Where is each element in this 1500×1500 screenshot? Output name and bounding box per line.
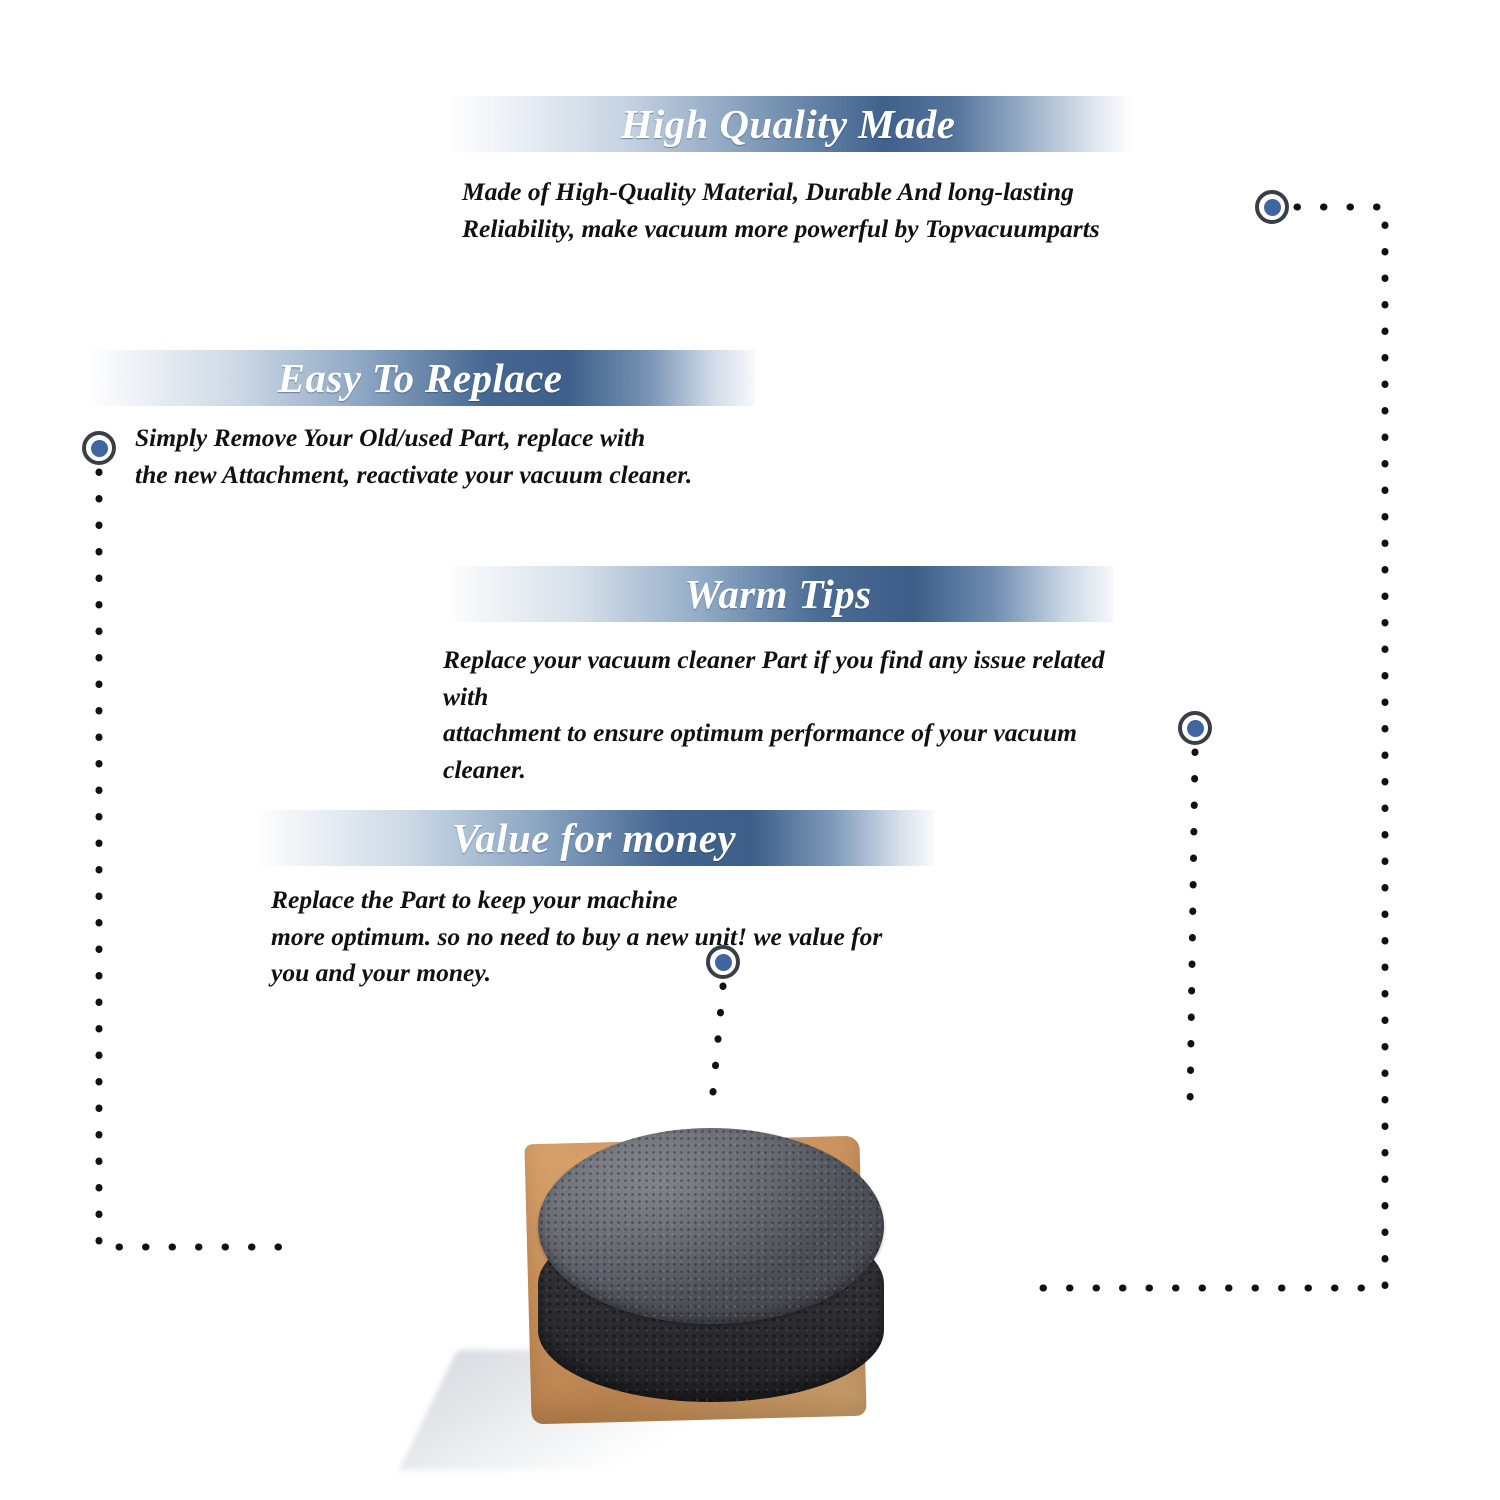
banner-value-for-money: Value for money	[253, 810, 935, 866]
marker-value-for-money[interactable]	[706, 945, 740, 979]
product-image-foam-filter-disc	[420, 1120, 1000, 1500]
feature-easy-to-replace: Easy To Replace Simply Remove Your Old/u…	[85, 350, 755, 493]
feature-title: High Quality Made	[621, 100, 956, 148]
marker-easy-to-replace[interactable]	[82, 431, 116, 465]
banner-warm-tips: Warm Tips	[443, 566, 1113, 622]
feature-body: Made of High-Quality Material, Durable A…	[462, 174, 1133, 247]
infographic-canvas: High Quality Made Made of High-Quality M…	[0, 0, 1500, 1500]
feature-body: Replace your vacuum cleaner Part if you …	[443, 642, 1113, 789]
feature-title: Easy To Replace	[278, 354, 563, 402]
feature-title: Value for money	[452, 814, 736, 862]
connector-value-for-money	[713, 986, 723, 1092]
banner-high-quality-made: High Quality Made	[443, 96, 1133, 152]
feature-warm-tips: Warm Tips Replace your vacuum cleaner Pa…	[443, 566, 1113, 789]
marker-warm-tips[interactable]	[1178, 711, 1212, 745]
connector-warm-tips	[1190, 752, 1195, 1108]
feature-body: Replace the Part to keep your machine mo…	[271, 882, 935, 992]
banner-easy-to-replace: Easy To Replace	[85, 350, 755, 406]
product-disc-top-texture	[538, 1128, 884, 1324]
feature-high-quality-made: High Quality Made Made of High-Quality M…	[443, 96, 1133, 247]
product-disc-top	[538, 1128, 884, 1324]
feature-body: Simply Remove Your Old/used Part, replac…	[135, 420, 755, 493]
feature-value-for-money: Value for money Replace the Part to keep…	[253, 810, 935, 992]
marker-high-quality-made[interactable]	[1255, 190, 1289, 224]
feature-title: Warm Tips	[685, 570, 872, 618]
